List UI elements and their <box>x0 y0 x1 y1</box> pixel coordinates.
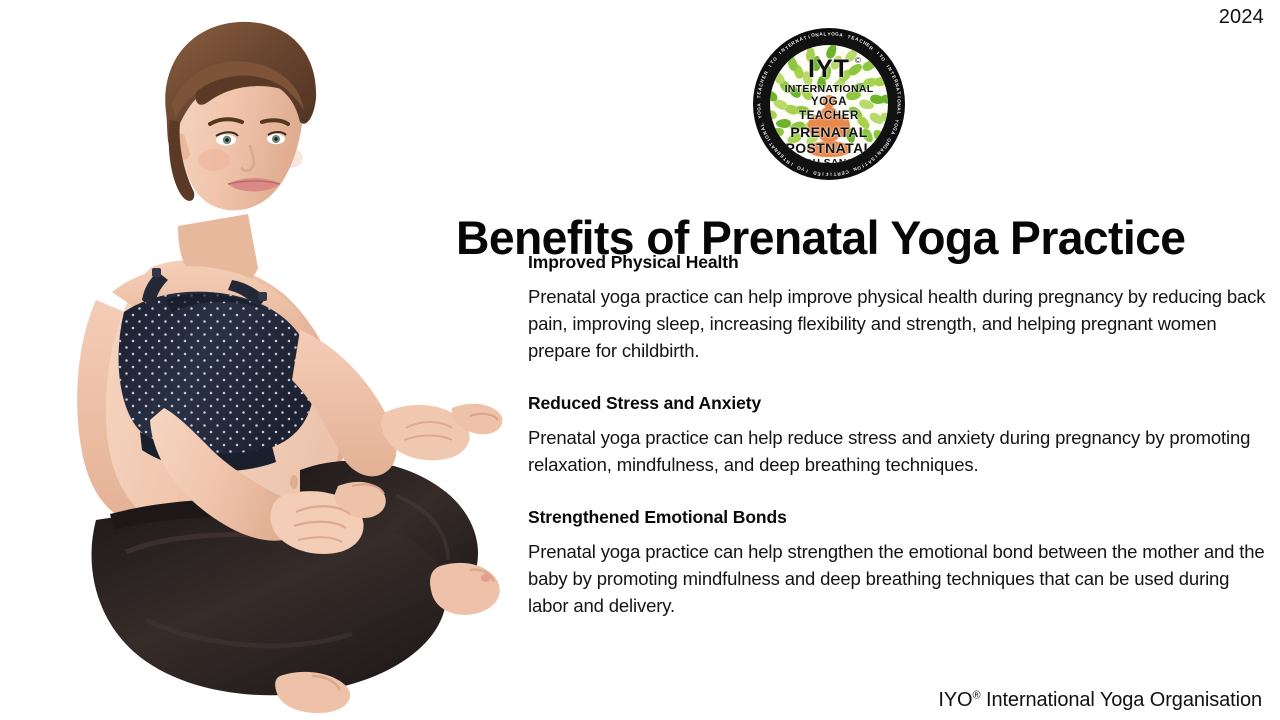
benefit-body: Prenatal yoga practice can help improve … <box>528 283 1266 364</box>
benefit-body: Prenatal yoga practice can help strength… <box>528 538 1266 619</box>
slide-canvas: 2024 <box>0 0 1280 720</box>
benefits-list: Improved Physical Health Prenatal yoga p… <box>528 252 1266 619</box>
footer-organisation: IYO® International Yoga Organisation <box>938 689 1262 712</box>
logo-text-postnatal: POSTNATAL <box>770 141 888 155</box>
logo-inner-disc: IYT © INTERNATIONAL YOGA TEACHER PRENATA… <box>770 45 888 163</box>
footer-org-name: International Yoga Organisation <box>981 689 1262 711</box>
registered-mark-icon: ® <box>973 689 981 701</box>
logo-text-iyt: IYT <box>770 57 888 82</box>
benefit-section: Reduced Stress and Anxiety Prenatal yoga… <box>528 393 1266 478</box>
iyt-logo: YOGA TEACHER IYO INTERNATIONAL YOGA ORGA… <box>753 28 905 180</box>
benefit-section: Strengthened Emotional Bonds Prenatal yo… <box>528 507 1266 619</box>
benefit-heading: Strengthened Emotional Bonds <box>528 507 1266 528</box>
benefit-heading: Improved Physical Health <box>528 252 1266 273</box>
footer-abbr: IYO <box>938 689 972 711</box>
year-label: 2024 <box>1219 6 1264 29</box>
benefit-section: Improved Physical Health Prenatal yoga p… <box>528 252 1266 364</box>
logo-text-international: INTERNATIONAL <box>770 84 888 95</box>
prenatal-yoga-photo <box>0 0 540 720</box>
benefit-body: Prenatal yoga practice can help reduce s… <box>528 424 1266 478</box>
logo-text-teacher: TEACHER <box>770 111 888 123</box>
logo-copyright-icon: © <box>855 56 861 65</box>
logo-text-prenatal: PRENATAL <box>770 125 888 139</box>
logo-text-garbh-sanskar: GARBH SANSKAR <box>770 158 888 163</box>
logo-text-yoga: YOGA <box>770 97 888 109</box>
benefit-heading: Reduced Stress and Anxiety <box>528 393 1266 414</box>
